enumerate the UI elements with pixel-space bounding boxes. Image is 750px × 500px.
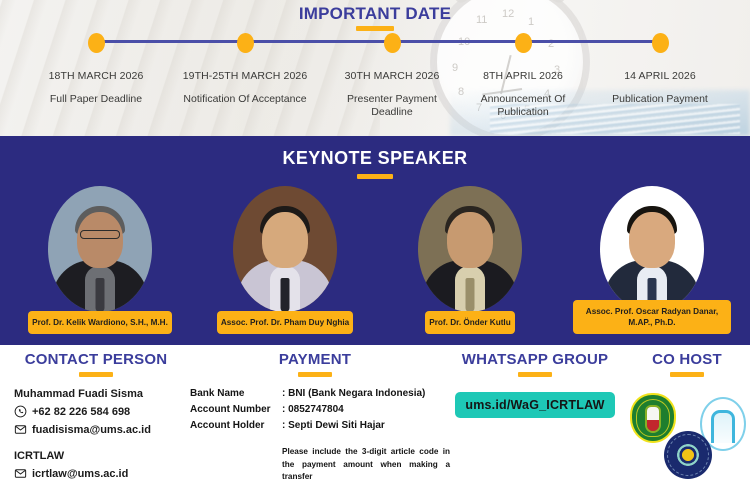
whatsapp-group-block: WHATSAPP GROUP ums.id/WaG_ICRTLAW [440, 351, 630, 418]
milestone-label: Presenter Payment Deadline [327, 93, 457, 119]
contact-phone: +62 82 226 584 698 [32, 406, 130, 418]
speaker-card: Assoc. Prof. Oscar Radyan Danar, M.AP., … [572, 186, 732, 334]
whatsapp-group-link[interactable]: ums.id/WaG_ICRTLAW [455, 392, 614, 418]
green-shield-university-logo [630, 393, 676, 443]
timeline-milestone: 14 APRIL 2026Publication Payment [595, 70, 725, 106]
milestone-date: 8TH APRIL 2026 [458, 70, 588, 82]
payment-title: PAYMENT [190, 351, 440, 368]
navy-circle-university-logo [664, 431, 712, 479]
payment-field-value: : 0852747804 [282, 404, 440, 415]
contact-person-title: CONTACT PERSON [6, 351, 186, 368]
payment-underline [298, 372, 332, 377]
milestone-date: 14 APRIL 2026 [595, 70, 725, 82]
whatsapp-group-title: WHATSAPP GROUP [440, 351, 630, 368]
speaker-card: Assoc. Prof. Dr. Pham Duy Nghia [205, 186, 365, 334]
milestone-date: 18TH MARCH 2026 [31, 70, 161, 82]
speaker-name: Prof. Dr. Önder Kutlu [425, 311, 514, 334]
payment-field-label: Bank Name [190, 388, 282, 399]
payment-block: PAYMENT Bank Name: BNI (Bank Negara Indo… [190, 351, 440, 484]
cohost-logos [628, 385, 746, 485]
timeline-dot [515, 33, 532, 53]
milestone-label: Publication Payment [595, 93, 725, 106]
timeline-dot [237, 33, 254, 53]
payment-note: Please include the 3-digit article code … [282, 446, 450, 484]
timeline-milestone: 8TH APRIL 2026Announcement Of Publicatio… [458, 70, 588, 119]
speaker-photo [48, 186, 152, 312]
keynote-underline [357, 174, 393, 179]
payment-row: Account Holder: Septi Dewi Siti Hajar [190, 420, 440, 431]
speaker-name: Prof. Dr. Kelik Wardiono, S.H., M.H. [28, 311, 172, 334]
envelope-icon [14, 423, 27, 436]
milestone-date: 30TH MARCH 2026 [327, 70, 457, 82]
contact-name: Muhammad Fuadi Sisma [14, 388, 186, 400]
whatsapp-underline [518, 372, 552, 377]
payment-field-value: : Septi Dewi Siti Hajar [282, 420, 440, 431]
milestone-label: Notification Of Acceptance [180, 93, 310, 106]
contact-org-name: ICRTLAW [14, 450, 186, 462]
contact-org-email: icrtlaw@ums.ac.id [32, 468, 128, 480]
contact-email: fuadisisma@ums.ac.id [32, 424, 151, 436]
conference-poster: 11 12 1 2 3 4 5 6 7 8 9 10 IMPORTANT DAT… [0, 0, 750, 500]
speaker-photo [418, 186, 522, 312]
cohost-underline [670, 372, 704, 377]
speaker-card: Prof. Dr. Kelik Wardiono, S.H., M.H. [20, 186, 180, 334]
contact-phone-row: +62 82 226 584 698 [14, 405, 186, 418]
milestone-label: Announcement Of Publication [458, 93, 588, 119]
milestone-label: Full Paper Deadline [31, 93, 161, 106]
timeline-track [96, 40, 660, 43]
footer-section: CONTACT PERSON Muhammad Fuadi Sisma +62 … [0, 345, 750, 500]
timeline-milestone: 30TH MARCH 2026Presenter Payment Deadlin… [327, 70, 457, 119]
payment-row: Account Number: 0852747804 [190, 404, 440, 415]
speaker-name: Assoc. Prof. Dr. Pham Duy Nghia [217, 311, 353, 334]
payment-field-label: Account Holder [190, 420, 282, 431]
payment-field-value: : BNI (Bank Negara Indonesia) [282, 388, 440, 399]
contact-underline [79, 372, 113, 377]
important-date-section: 11 12 1 2 3 4 5 6 7 8 9 10 IMPORTANT DAT… [0, 0, 750, 136]
timeline-milestone: 19TH-25TH MARCH 2026Notification Of Acce… [180, 70, 310, 106]
speaker-photo [233, 186, 337, 312]
timeline-dot [384, 33, 401, 53]
milestone-date: 19TH-25TH MARCH 2026 [180, 70, 310, 82]
contact-person-block: CONTACT PERSON Muhammad Fuadi Sisma +62 … [6, 351, 186, 480]
contact-org-email-row: icrtlaw@ums.ac.id [14, 467, 186, 480]
timeline-milestone: 18TH MARCH 2026Full Paper Deadline [31, 70, 161, 106]
speaker-card: Prof. Dr. Önder Kutlu [390, 186, 550, 334]
payment-details: Bank Name: BNI (Bank Negara Indonesia)Ac… [190, 388, 440, 431]
cohost-block: CO HOST [628, 351, 746, 485]
payment-field-label: Account Number [190, 404, 282, 415]
timeline-dot [88, 33, 105, 53]
envelope-icon [14, 467, 27, 480]
cohost-title: CO HOST [628, 351, 746, 368]
title-underline [356, 26, 394, 31]
important-date-title: IMPORTANT DATE [0, 4, 750, 24]
speaker-photo [600, 186, 704, 312]
speaker-name: Assoc. Prof. Oscar Radyan Danar, M.AP., … [573, 300, 731, 334]
payment-row: Bank Name: BNI (Bank Negara Indonesia) [190, 388, 440, 399]
whatsapp-icon [14, 405, 27, 418]
contact-email-row: fuadisisma@ums.ac.id [14, 423, 186, 436]
keynote-title: KEYNOTE SPEAKER [0, 148, 750, 169]
keynote-speaker-section: KEYNOTE SPEAKER Prof. Dr. Kelik Wardiono… [0, 136, 750, 345]
timeline-dot [652, 33, 669, 53]
